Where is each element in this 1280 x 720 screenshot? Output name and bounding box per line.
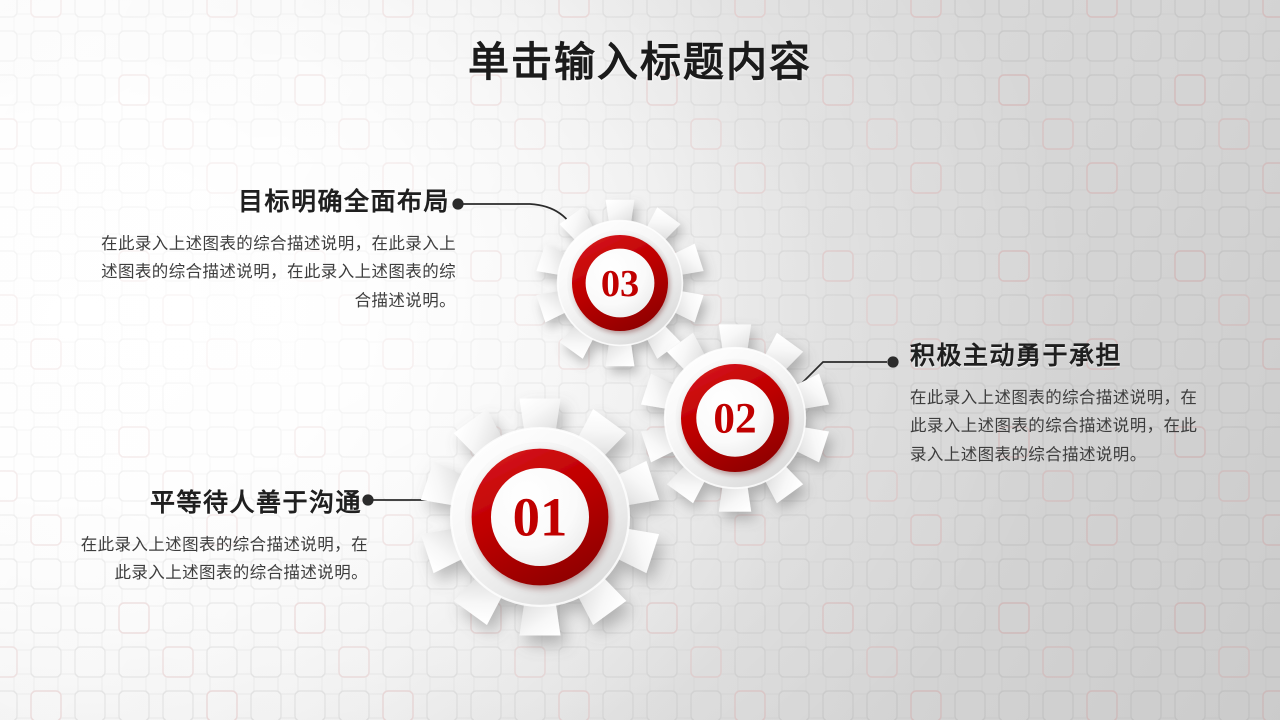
- callout-heading-03: 目标明确全面布局: [96, 182, 456, 218]
- gear-number-02: 02: [713, 395, 756, 442]
- callout-item-02: 积极主动勇于承担 在此录入上述图表的综合描述说明，在此录入上述图表的综合描述说明…: [910, 336, 1210, 469]
- callout-item-03: 目标明确全面布局 在此录入上述图表的综合描述说明，在此录入上述图表的综合描述说明…: [96, 182, 456, 315]
- callout-body-01: 在此录入上述图表的综合描述说明，在此录入上述图表的综合描述说明。: [78, 531, 368, 588]
- callout-body-02: 在此录入上述图表的综合描述说明，在此录入上述图表的综合描述说明，在此录入上述图表…: [910, 384, 1210, 469]
- gear-01[interactable]: 01: [421, 398, 659, 635]
- callout-item-01: 平等待人善于沟通 在此录入上述图表的综合描述说明，在此录入上述图表的综合描述说明…: [78, 483, 368, 588]
- slide-canvas: 单击输入标题内容: [0, 0, 1280, 720]
- callout-body-03: 在此录入上述图表的综合描述说明，在此录入上述图表的综合描述说明，在此录入上述图表…: [96, 230, 456, 315]
- gear-number-03: 03: [601, 263, 639, 305]
- gear-02[interactable]: 02: [641, 324, 829, 511]
- gear-number-01: 01: [513, 486, 568, 547]
- callout-heading-01: 平等待人善于沟通: [78, 483, 368, 519]
- gear-03[interactable]: 03: [536, 200, 703, 366]
- callout-heading-02: 积极主动勇于承担: [910, 336, 1210, 372]
